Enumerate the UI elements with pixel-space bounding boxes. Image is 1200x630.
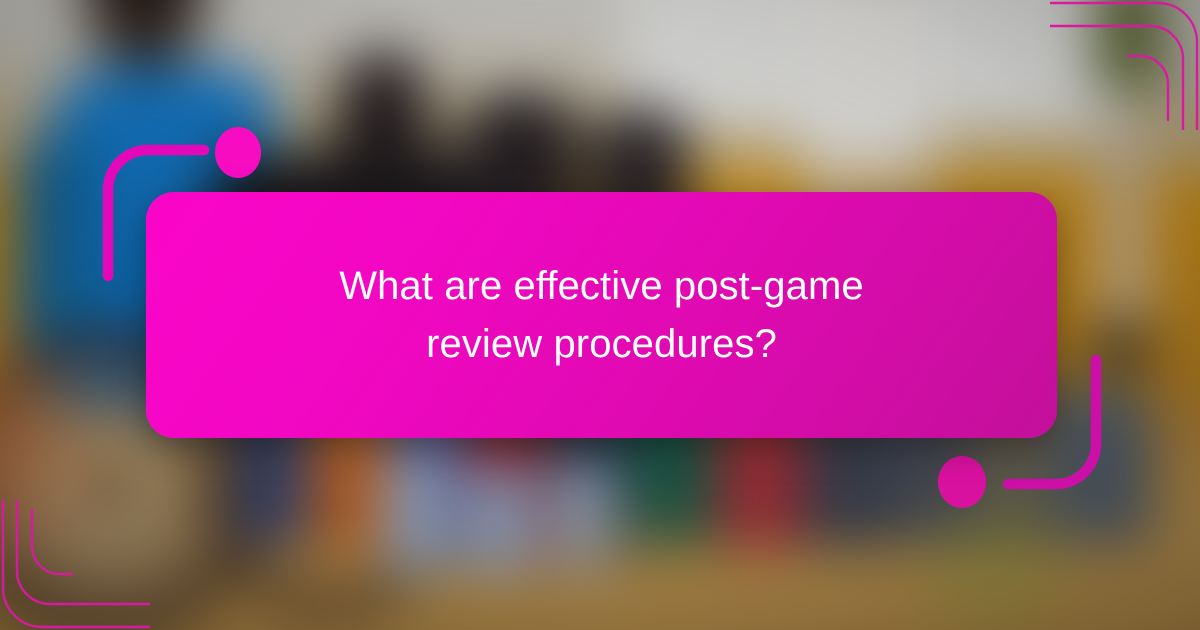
question-card: What are effective post-game review proc… bbox=[146, 192, 1057, 438]
accent-dot-top-left bbox=[215, 127, 261, 178]
question-text: What are effective post-game review proc… bbox=[282, 257, 922, 373]
question-card-graphic: What are effective post-game review proc… bbox=[0, 0, 1200, 630]
accent-dot-bottom-right bbox=[938, 456, 986, 508]
